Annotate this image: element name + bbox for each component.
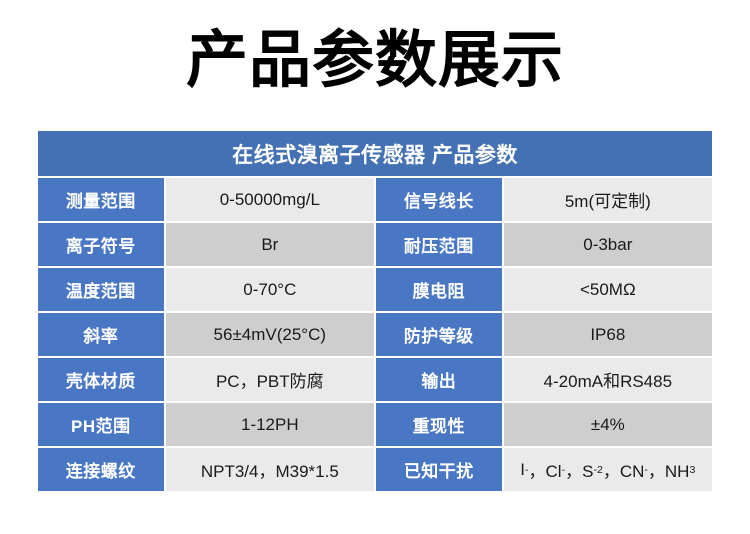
- spec-value: ±4%: [504, 403, 712, 446]
- page-title: 产品参数展示: [0, 22, 750, 98]
- table-row: 斜率 56±4mV(25°C) 防护等级 IP68: [38, 313, 712, 356]
- spec-label: 防护等级: [376, 313, 502, 356]
- spec-label: 重现性: [376, 403, 502, 446]
- table-row: 温度范围 0-70°C 膜电阻 <50MΩ: [38, 268, 712, 311]
- spec-value: 0-70°C: [166, 268, 374, 311]
- product-spec-page: 产品参数展示 在线式溴离子传感器 产品参数 测量范围 0-50000mg/L 信…: [0, 0, 750, 534]
- spec-value: 1-12PH: [166, 403, 374, 446]
- spec-label: 离子符号: [38, 223, 164, 266]
- spec-label: 斜率: [38, 313, 164, 356]
- spec-value: 0-3bar: [504, 223, 712, 266]
- spec-label: 测量范围: [38, 178, 164, 221]
- spec-value: 0-50000mg/L: [166, 178, 374, 221]
- spec-label: 耐压范围: [376, 223, 502, 266]
- table-row: 测量范围 0-50000mg/L 信号线长 5m(可定制): [38, 178, 712, 221]
- spec-value: <50MΩ: [504, 268, 712, 311]
- spec-value-interference-formula: I-，Cl-，S-2，CN-，NH3: [504, 448, 712, 491]
- spec-label: 膜电阻: [376, 268, 502, 311]
- table-row: PH范围 1-12PH 重现性 ±4%: [38, 403, 712, 446]
- spec-value: NPT3/4，M39*1.5: [166, 448, 374, 491]
- spec-value: IP68: [504, 313, 712, 356]
- spec-label: 连接螺纹: [38, 448, 164, 491]
- spec-label: 信号线长: [376, 178, 502, 221]
- table-row: 离子符号 Br 耐压范围 0-3bar: [38, 223, 712, 266]
- spec-table: 在线式溴离子传感器 产品参数 测量范围 0-50000mg/L 信号线长 5m(…: [38, 131, 712, 491]
- spec-label: 输出: [376, 358, 502, 401]
- spec-value: Br: [166, 223, 374, 266]
- spec-label: 温度范围: [38, 268, 164, 311]
- spec-value: 56±4mV(25°C): [166, 313, 374, 356]
- spec-label: PH范围: [38, 403, 164, 446]
- spec-value: 4-20mA和RS485: [504, 358, 712, 401]
- table-row: 壳体材质 PC，PBT防腐 输出 4-20mA和RS485: [38, 358, 712, 401]
- spec-label: 壳体材质: [38, 358, 164, 401]
- spec-value: PC，PBT防腐: [166, 358, 374, 401]
- spec-label: 已知干扰: [376, 448, 502, 491]
- table-row: 连接螺纹 NPT3/4，M39*1.5 已知干扰 I-，Cl-，S-2，CN-，…: [38, 448, 712, 491]
- spec-value: 5m(可定制): [504, 178, 712, 221]
- table-header-title: 在线式溴离子传感器 产品参数: [38, 131, 712, 176]
